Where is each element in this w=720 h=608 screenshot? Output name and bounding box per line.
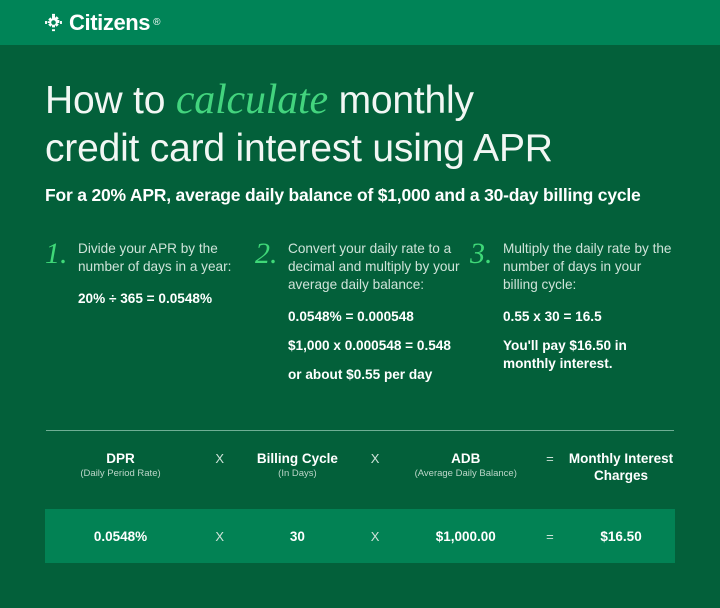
page-title: How to calculate monthly credit card int… bbox=[45, 76, 685, 173]
table-value-billing-cycle: 30 bbox=[244, 529, 352, 544]
step-2-calculation-1: 0.0548% = 0.000548 bbox=[288, 308, 470, 326]
step-1-body: Divide your APR by the number of days in… bbox=[78, 240, 255, 308]
table-header-dpr: DPR (Daily Period Rate) bbox=[45, 450, 196, 481]
brand-bar: Citizens ® bbox=[0, 0, 720, 45]
step-3-calculation-2: You'll pay $16.50 in monthly interest. bbox=[503, 337, 675, 373]
table-operator-2: X bbox=[351, 450, 398, 467]
table-header-billing-cycle: Billing Cycle (In Days) bbox=[244, 450, 352, 481]
table-header-monthly-interest: Monthly Interest Charges bbox=[567, 450, 675, 484]
step-2: 2. Convert your daily rate to a decimal … bbox=[255, 240, 470, 384]
table-header-dpr-sub: (Daily Period Rate) bbox=[45, 467, 196, 481]
infographic-root: Citizens ® How to calculate monthly cred… bbox=[0, 0, 720, 608]
step-3-calculation-1: 0.55 x 30 = 16.5 bbox=[503, 308, 675, 326]
step-1: 1. Divide your APR by the number of days… bbox=[45, 240, 255, 384]
table-value-operator-2: X bbox=[351, 529, 398, 544]
step-2-calculation-3: or about $0.55 per day bbox=[288, 366, 470, 384]
table-value-row: 0.0548% X 30 X $1,000.00 = $16.50 bbox=[45, 509, 675, 563]
step-1-description: Divide your APR by the number of days in… bbox=[78, 240, 255, 276]
table-header-adb-label: ADB bbox=[399, 450, 533, 467]
table-value-adb: $1,000.00 bbox=[399, 529, 533, 544]
steps-container: 1. Divide your APR by the number of days… bbox=[45, 240, 685, 384]
headline-after: monthly bbox=[328, 79, 474, 122]
table-divider bbox=[46, 430, 674, 431]
step-3-body: Multiply the daily rate by the number of… bbox=[503, 240, 675, 373]
step-2-description: Convert your daily rate to a decimal and… bbox=[288, 240, 470, 294]
headline-before: How to bbox=[45, 79, 176, 122]
brand-lockup: Citizens ® bbox=[43, 12, 161, 34]
table-header-billing-cycle-label: Billing Cycle bbox=[244, 450, 352, 467]
step-3: 3. Multiply the daily rate by the number… bbox=[470, 240, 675, 384]
table-value-operator-1: X bbox=[196, 529, 243, 544]
table-header-adb-sub: (Average Daily Balance) bbox=[399, 467, 533, 481]
table-header-adb: ADB (Average Daily Balance) bbox=[399, 450, 533, 481]
step-1-calculation-1: 20% ÷ 365 = 0.0548% bbox=[78, 290, 255, 308]
step-2-calculation-2: $1,000 x 0.000548 = 0.548 bbox=[288, 337, 470, 355]
headline-line-2: credit card interest using APR bbox=[45, 127, 553, 170]
step-3-description: Multiply the daily rate by the number of… bbox=[503, 240, 675, 294]
page-subtitle: For a 20% APR, average daily balance of … bbox=[45, 183, 695, 207]
headline-accent-word: calculate bbox=[176, 77, 328, 123]
table-value-monthly-interest: $16.50 bbox=[567, 529, 675, 544]
step-3-number: 3. bbox=[470, 240, 503, 268]
citizens-star-icon bbox=[43, 12, 64, 33]
table-operator-1: X bbox=[196, 450, 243, 467]
table-value-dpr: 0.0548% bbox=[45, 529, 196, 544]
table-value-operator-3: = bbox=[533, 529, 568, 544]
table-header-dpr-label: DPR bbox=[45, 450, 196, 467]
table-header-monthly-interest-label: Monthly Interest Charges bbox=[567, 450, 675, 484]
brand-name: Citizens bbox=[69, 12, 150, 34]
brand-trademark: ® bbox=[153, 18, 160, 28]
table-operator-3: = bbox=[533, 450, 568, 467]
step-2-number: 2. bbox=[255, 240, 288, 268]
step-1-number: 1. bbox=[45, 240, 78, 268]
table-header-billing-cycle-sub: (In Days) bbox=[244, 467, 352, 481]
step-2-body: Convert your daily rate to a decimal and… bbox=[288, 240, 470, 384]
table-header-row: DPR (Daily Period Rate) X Billing Cycle … bbox=[45, 450, 675, 484]
